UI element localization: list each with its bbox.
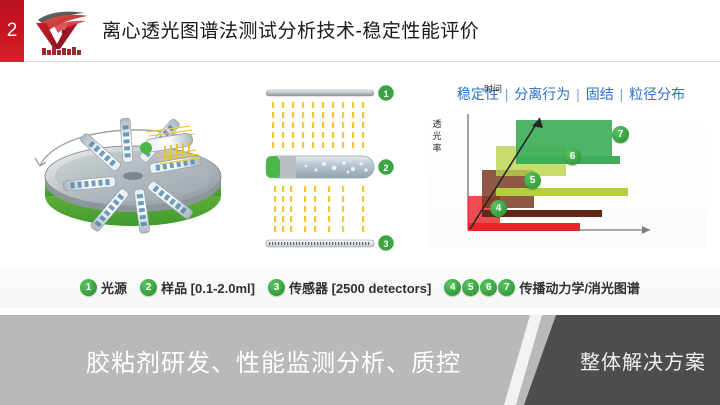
caption-badge-4: 4 xyxy=(444,279,461,296)
svg-text:3: 3 xyxy=(383,239,388,249)
caption-label-sample: 样品 [0.1-2.0ml] xyxy=(161,278,255,297)
separator-2: | xyxy=(574,86,582,102)
caption-badge-3: 3 xyxy=(268,279,285,296)
chart-plot-area: 4 5 6 7 xyxy=(428,108,706,248)
caption-badge-2: 2 xyxy=(140,279,157,296)
brand-wordmark xyxy=(35,46,87,55)
chart-badge-6: 6 xyxy=(564,148,581,165)
caption-label-dynamics: 传播动力学/消光图谱 xyxy=(519,278,640,297)
chart-badge-7: 7 xyxy=(612,126,629,143)
svg-text:2: 2 xyxy=(383,163,388,173)
chart-badge-4: 4 xyxy=(490,200,507,217)
banner-right-text: 整体解决方案 xyxy=(580,315,706,405)
slide-header: 离心透光图谱法测试分析技术-稳定性能评价 xyxy=(24,0,720,62)
slide-content: 1 xyxy=(0,62,720,315)
separator-1: | xyxy=(503,86,511,102)
caption-label-light-source: 光源 xyxy=(101,278,127,297)
caption-badge-5: 5 xyxy=(462,279,479,296)
caption-badge-group: 4 5 6 7 xyxy=(444,279,515,296)
caption-badge-6: 6 xyxy=(480,279,497,296)
chart-tag-particle-size[interactable]: 粒径分布 xyxy=(629,86,685,102)
svg-text:1: 1 xyxy=(383,89,388,99)
legend-caption-strip: 1 光源 2 样品 [0.1-2.0ml] 3 传感器 [2500 detect… xyxy=(0,266,720,308)
optical-detector-illustration: 1 xyxy=(258,80,413,265)
time-axis-label: 时间 xyxy=(484,82,502,95)
page-title: 离心透光图谱法测试分析技术-稳定性能评价 xyxy=(102,16,479,43)
caption-badge-1: 1 xyxy=(80,279,97,296)
banner-left-text: 胶粘剂研发、性能监测分析、质控 xyxy=(86,315,461,405)
centrifuge-rotor-illustration xyxy=(18,88,248,258)
page-number: 2 xyxy=(0,0,24,62)
chart-header-links: 稳定性 | 分离行为 | 固结 | 粒径分布 xyxy=(430,84,712,104)
caption-label-sensor: 传感器 [2500 detectors] xyxy=(289,278,431,297)
y-axis-label: 透光率 xyxy=(430,118,444,154)
chart-tag-consolidation[interactable]: 固结 xyxy=(586,86,614,102)
chart-badge-5: 5 xyxy=(524,172,541,189)
caption-badge-7: 7 xyxy=(498,279,515,296)
bottom-banner: 胶粘剂研发、性能监测分析、质控 整体解决方案 xyxy=(0,315,720,405)
chart-tag-separation[interactable]: 分离行为 xyxy=(514,86,570,102)
separator-3: | xyxy=(618,86,626,102)
